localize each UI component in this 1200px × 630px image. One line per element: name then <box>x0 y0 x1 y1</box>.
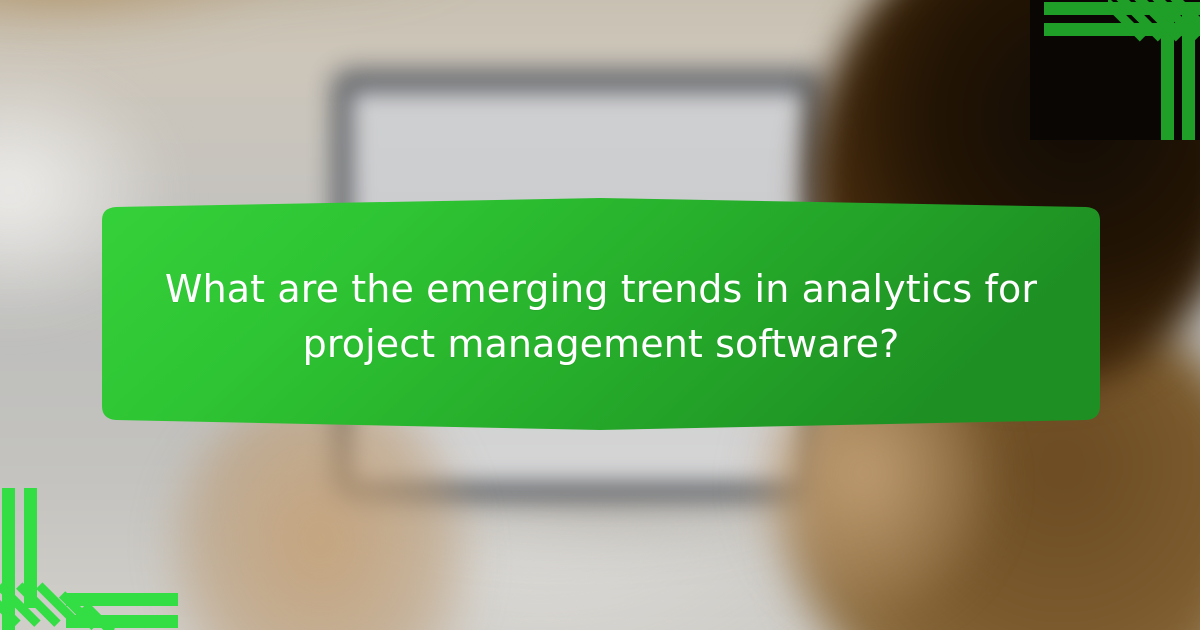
question-banner: What are the emerging trends in analytic… <box>100 198 1102 430</box>
banner-question-text: What are the emerging trends in analytic… <box>100 262 1102 372</box>
banner-question-line-1: What are the emerging trends in analytic… <box>140 262 1062 317</box>
banner-question-line-2: project management software? <box>140 317 1062 372</box>
poster-canvas: What are the emerging trends in analytic… <box>0 0 1200 630</box>
